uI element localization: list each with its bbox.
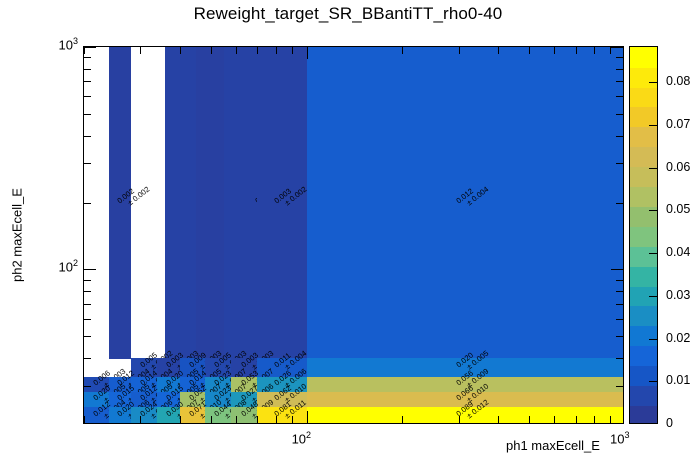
- colorbar-tick: [649, 82, 658, 83]
- axis-tick: [84, 416, 85, 423]
- axis-tick: [180, 416, 181, 423]
- axis-tick: [84, 114, 91, 115]
- axis-tick: [616, 96, 623, 97]
- axis-tick: [616, 203, 623, 204]
- plot-frame: 0.002± 0.0020.003± 0.0020.002± 0.0020.00…: [83, 46, 624, 424]
- colorbar-tick-label: 0.04: [666, 245, 690, 259]
- axis-tick: [616, 386, 623, 387]
- axis-tick: [84, 358, 91, 359]
- axis-tick: [594, 47, 595, 54]
- colorbar-segment: [630, 266, 657, 287]
- axis-tick: [611, 269, 623, 270]
- axis-tick: [616, 81, 623, 82]
- colorbar-segment: [630, 186, 657, 207]
- axis-tick: [616, 319, 623, 320]
- axis-tick: [529, 47, 530, 54]
- heatmap-cells: 0.002± 0.0020.003± 0.0020.002± 0.0020.00…: [84, 47, 623, 423]
- axis-tick: [616, 358, 623, 359]
- axis-tick: [576, 416, 577, 423]
- axis-tick: [307, 47, 308, 59]
- axis-tick: [84, 57, 91, 58]
- axis-tick: [616, 304, 623, 305]
- colorbar-segment: [630, 67, 657, 88]
- axis-tick: [610, 416, 611, 423]
- colorbar-tick-label: 0.06: [666, 160, 690, 174]
- axis-tick: [616, 136, 623, 137]
- axis-tick: [84, 336, 91, 337]
- axis-tick: [402, 47, 403, 54]
- axis-tick: [554, 416, 555, 423]
- axis-tick: [140, 47, 141, 54]
- axis-tick: [140, 416, 141, 423]
- root-canvas: Reweight_target_SR_BBantiTT_rho0-40 ph2 …: [0, 0, 696, 472]
- axis-tick: [236, 416, 237, 423]
- axis-tick: [257, 416, 258, 423]
- axis-tick: [84, 386, 91, 387]
- colorbar-segment: [630, 306, 657, 327]
- x-tick-label: 103: [610, 430, 629, 446]
- axis-tick: [459, 47, 460, 54]
- colorbar-tick-label: 0.05: [666, 202, 690, 216]
- axis-tick: [616, 57, 623, 58]
- colorbar-segment: [630, 166, 657, 187]
- axis-tick: [84, 304, 91, 305]
- axis-tick: [211, 47, 212, 54]
- axis-tick: [211, 416, 212, 423]
- x-tick-label: 102: [292, 430, 311, 446]
- axis-tick: [307, 411, 308, 423]
- axis-tick: [84, 47, 96, 48]
- axis-tick: [616, 114, 623, 115]
- colorbar-tick-label: 0.07: [666, 117, 690, 131]
- axis-tick: [257, 47, 258, 54]
- colorbar-tick-label: 0: [666, 416, 673, 430]
- y-axis-title: ph2 maxEcell_E: [8, 46, 26, 424]
- axis-tick: [594, 416, 595, 423]
- x-axis-title: ph1 maxEcell_E: [506, 438, 600, 453]
- colorbar-tick: [649, 210, 658, 211]
- axis-tick: [616, 69, 623, 70]
- colorbar-tick: [649, 339, 658, 340]
- axis-tick: [616, 336, 623, 337]
- colorbar-segment: [630, 365, 657, 386]
- y-tick-label: 102: [59, 258, 78, 274]
- axis-tick: [84, 280, 91, 281]
- axis-tick: [84, 136, 91, 137]
- colorbar-segment: [630, 405, 657, 424]
- colorbar-tick: [649, 296, 658, 297]
- axis-tick: [84, 319, 91, 320]
- axis-tick: [276, 416, 277, 423]
- axis-tick: [180, 47, 181, 54]
- axis-tick: [84, 269, 96, 270]
- colorbar-segment: [630, 146, 657, 167]
- axis-tick: [498, 47, 499, 54]
- axis-tick: [276, 47, 277, 54]
- axis-tick: [84, 81, 91, 82]
- axis-tick: [576, 47, 577, 54]
- axis-tick: [292, 416, 293, 423]
- axis-tick: [84, 47, 85, 54]
- colorbar-segment: [630, 127, 657, 148]
- colorbar-tick-label: 0.03: [666, 288, 690, 302]
- colorbar-tick: [649, 168, 658, 169]
- axis-tick: [402, 416, 403, 423]
- colorbar[interactable]: [629, 46, 658, 424]
- colorbar-segment: [630, 385, 657, 406]
- axis-tick: [84, 69, 91, 70]
- axis-tick: [616, 291, 623, 292]
- colorbar-segment: [630, 345, 657, 366]
- axis-tick: [498, 416, 499, 423]
- colorbar-segment: [630, 206, 657, 227]
- axis-tick: [84, 291, 91, 292]
- colorbar-tick-label: 0.02: [666, 331, 690, 345]
- colorbar-tick-label: 0.08: [666, 74, 690, 88]
- axis-tick: [610, 47, 611, 54]
- axis-tick: [459, 416, 460, 423]
- axis-tick: [84, 203, 91, 204]
- axis-tick: [616, 163, 623, 164]
- axis-tick: [616, 280, 623, 281]
- axis-tick: [529, 416, 530, 423]
- colorbar-tick: [649, 381, 658, 382]
- axis-tick: [292, 47, 293, 54]
- axis-tick: [84, 163, 91, 164]
- colorbar-segment: [630, 246, 657, 267]
- axis-tick: [554, 47, 555, 54]
- colorbar-tick: [649, 253, 658, 254]
- axis-tick: [611, 47, 623, 48]
- colorbar-segment: [630, 47, 657, 68]
- colorbar-segment: [630, 326, 657, 347]
- colorbar-segment: [630, 87, 657, 108]
- colorbar-segment: [630, 226, 657, 247]
- axis-tick: [84, 96, 91, 97]
- colorbar-tick-label: 0.01: [666, 373, 690, 387]
- y-tick-label: 103: [59, 36, 78, 52]
- axis-tick: [236, 47, 237, 54]
- colorbar-tick: [649, 125, 658, 126]
- page-title: Reweight_target_SR_BBantiTT_rho0-40: [0, 4, 696, 24]
